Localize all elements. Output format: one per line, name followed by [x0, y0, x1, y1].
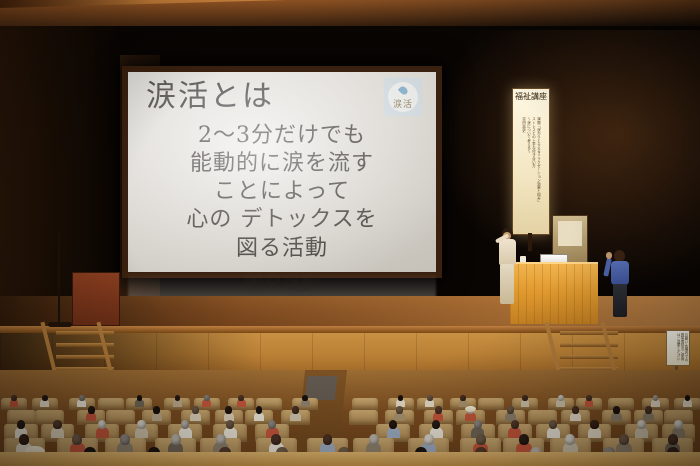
- audience-head: [558, 395, 564, 401]
- banner-column-3: 〜涙について考える〜: [527, 117, 531, 227]
- audience-head: [292, 406, 299, 414]
- banner-columns: 演題「涙からとらえるリラクゼーション効果と悩み」 ストレスとの上手な付き合い方 …: [515, 117, 547, 227]
- audience-head: [88, 406, 95, 414]
- audience-head: [668, 434, 678, 445]
- presenter-torso: [499, 239, 516, 265]
- microphone-stand: [58, 232, 60, 326]
- audience-head: [389, 420, 397, 429]
- event-banner: 福祉講座 演題「涙からとらえるリラクゼーション効果と悩み」 ストレスとの上手な付…: [512, 88, 550, 235]
- audience-head: [175, 395, 181, 401]
- aisle-mat: [305, 376, 338, 400]
- projection-screen: 涙活とは 涙活 2〜3分だけでも 能動的に涙を流す ことによって 心の デトック…: [128, 72, 436, 272]
- slide-body: 2〜3分だけでも 能動的に涙を流す ことによって 心の デトックスを 図る活動: [128, 122, 436, 263]
- audience-head: [645, 406, 652, 414]
- audience-head: [256, 406, 263, 414]
- audience-head: [522, 395, 528, 401]
- audience-head: [271, 434, 281, 445]
- audience-head: [302, 395, 308, 401]
- audience-head: [637, 420, 645, 429]
- audience-head: [171, 434, 181, 445]
- audience-head: [396, 406, 403, 414]
- audience-head: [511, 420, 519, 429]
- audience-head: [11, 395, 17, 401]
- audience-head: [460, 395, 466, 401]
- audience-head: [427, 395, 433, 401]
- audience-head: [79, 395, 85, 401]
- audience-seat: [478, 398, 504, 410]
- banner-column-1: 演題「涙からとらえるリラクゼーション効果と悩み」: [536, 117, 540, 227]
- side-lectern: [72, 272, 120, 326]
- audience-seat: [608, 398, 634, 410]
- banner-heading: 福祉講座: [513, 93, 549, 101]
- audience-head: [398, 395, 404, 401]
- slide-title: 涙活とは: [146, 82, 274, 112]
- audience-head: [586, 395, 592, 401]
- audience-head: [225, 406, 232, 414]
- assistant-legs: [613, 284, 627, 317]
- slide-line-3: ことによって: [128, 178, 436, 206]
- audience-head: [192, 406, 199, 414]
- audience-head: [238, 395, 244, 401]
- audience-head: [674, 420, 682, 429]
- slide-line-2: 能動的に涙を流す: [128, 150, 436, 178]
- audience-head: [72, 434, 82, 445]
- assistant-raised-hand: [606, 250, 634, 322]
- presenter-speaking: [492, 228, 522, 308]
- slide-line-4: 心の デトックスを: [128, 206, 436, 234]
- slide-line-5: 図る活動: [128, 235, 436, 263]
- audience-head: [435, 406, 442, 414]
- front-row-rail: [0, 452, 700, 466]
- audience-seat: [352, 398, 378, 410]
- floor-sign-text: お願い 会場内での携帯電話のご使用はご遠慮ください: [669, 333, 687, 363]
- audience-head: [19, 434, 29, 445]
- audience-head: [619, 434, 629, 445]
- stair-tread: [56, 331, 114, 335]
- reflection-text: 図る活動: [128, 269, 436, 296]
- audience-head: [653, 395, 659, 401]
- audience-head: [476, 434, 486, 445]
- audience-head: [153, 406, 160, 414]
- audience-seating: [0, 370, 700, 466]
- slide-line-1: 2〜3分だけでも: [128, 122, 436, 150]
- presenter-legs: [500, 264, 514, 304]
- audience-head: [53, 420, 61, 429]
- audience-head: [613, 406, 620, 414]
- audience-head: [17, 420, 25, 429]
- audience-head: [323, 434, 333, 445]
- audience-head: [685, 395, 691, 401]
- stair-tread: [560, 331, 618, 335]
- assistant-hand: [606, 252, 612, 259]
- audience-head: [590, 420, 598, 429]
- audience-seat: [106, 410, 135, 425]
- floor-notice-sign: お願い 会場内での携帯電話のご使用はご遠慮ください: [666, 330, 690, 366]
- audience-head: [424, 434, 434, 445]
- audience-seat: [98, 398, 124, 410]
- audience-seat: [349, 410, 378, 425]
- audience-head: [474, 420, 482, 429]
- banner-speaker-name: 吉田 英史: [522, 117, 526, 227]
- audience-head: [507, 406, 514, 414]
- banner-stand: [528, 233, 532, 251]
- assistant-torso: [611, 261, 629, 285]
- audience-head: [369, 434, 379, 445]
- ruikatsu-teardrop-logo: 涙活: [384, 78, 422, 116]
- audience-head: [137, 420, 145, 429]
- audience-head: [137, 395, 143, 401]
- audience-head: [572, 406, 579, 414]
- audience-head: [42, 395, 48, 401]
- lecture-hall-photo: 涙活とは 涙活 2〜3分だけでも 能動的に涙を流す ことによって 心の デトック…: [0, 0, 700, 466]
- presentation-desk: [510, 262, 598, 324]
- audience-head: [565, 434, 575, 445]
- banner-column-2: ストレスとの上手な付き合い方: [532, 117, 536, 227]
- audience-head: [216, 434, 226, 445]
- screen-floor-reflection: 図る活動: [128, 272, 436, 298]
- audience-head: [120, 434, 130, 445]
- audience-head: [519, 434, 529, 445]
- logo-kanji: 涙活: [384, 97, 422, 110]
- stage-apron-shadow: [0, 333, 260, 371]
- audience-head: [204, 395, 210, 401]
